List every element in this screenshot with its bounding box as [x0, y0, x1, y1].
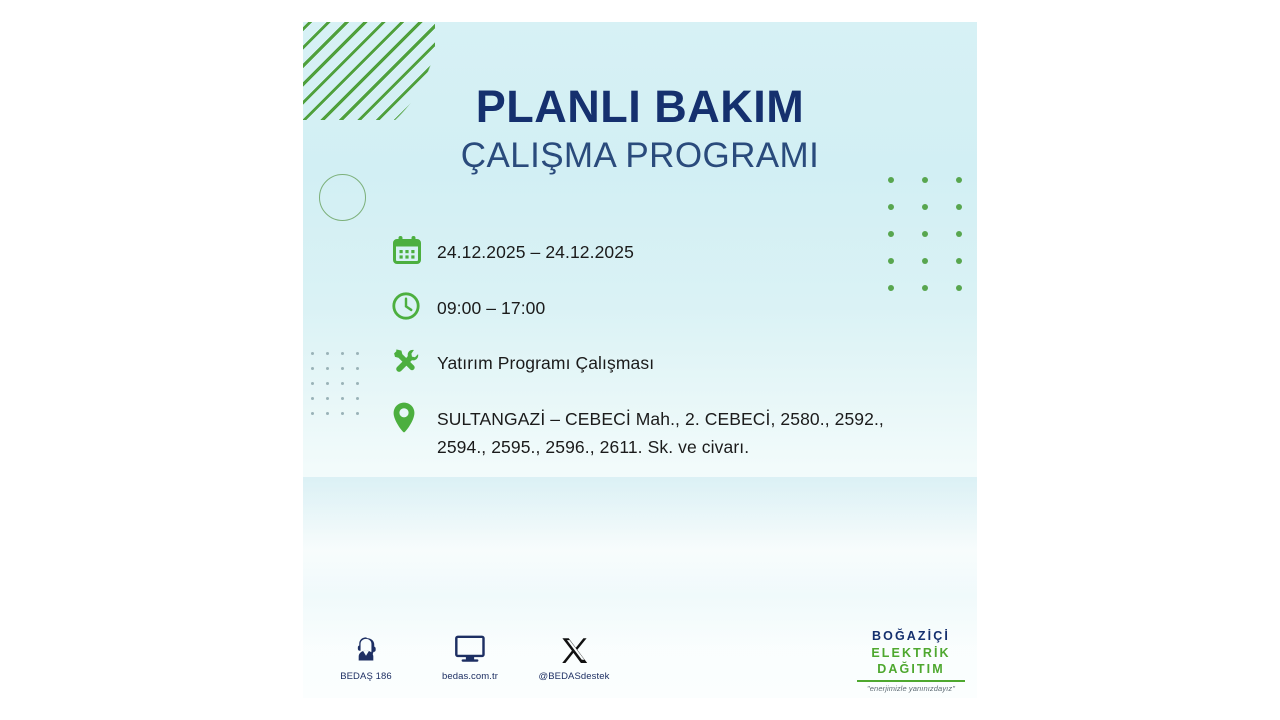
contact-website-label: bedas.com.tr: [433, 671, 507, 682]
contact-channels: BEDAŞ 186 bedas.com.tr: [329, 626, 611, 682]
logo-line-dagitim: DAĞITIM: [857, 661, 965, 678]
detail-location-value: SULTANGAZİ – CEBECİ Mah., 2. CEBECİ, 258…: [437, 398, 884, 462]
page-title: PLANLI BAKIM: [303, 84, 977, 131]
dot-grid-left-decoration: [311, 352, 371, 427]
detail-time-value: 09:00 – 17:00: [437, 286, 545, 322]
detail-row-location: SULTANGAZİ – CEBECİ Mah., 2. CEBECİ, 258…: [391, 398, 961, 462]
contact-x-label: @BEDASdestek: [537, 671, 611, 682]
circle-outline-decoration: [319, 174, 366, 221]
tools-icon: [391, 342, 437, 382]
clock-icon: [391, 286, 437, 326]
logo-divider: [857, 680, 965, 682]
logo-line-elektrik: ELEKTRİK: [857, 645, 965, 662]
detail-location-line1: SULTANGAZİ – CEBECİ Mah., 2. CEBECİ, 258…: [437, 409, 884, 429]
maintenance-details-list: 24.12.2025 – 24.12.2025 09:00 – 17:00: [391, 230, 961, 462]
detail-work-type-value: Yatırım Programı Çalışması: [437, 342, 654, 377]
page-subtitle: ÇALIŞMA PROGRAMI: [303, 138, 977, 175]
x-twitter-icon: [537, 626, 611, 664]
map-pin-icon: [391, 398, 437, 438]
poster-footer: BEDAŞ 186 bedas.com.tr: [303, 620, 977, 698]
detail-location-line2: 2594., 2595., 2596., 2611. Sk. ve civarı…: [437, 437, 749, 457]
logo-line-bogazici: BOĞAZİÇİ: [857, 628, 965, 645]
planned-maintenance-poster: PLANLI BAKIM ÇALIŞMA PROGRAMI: [303, 22, 977, 698]
detail-row-date: 24.12.2025 – 24.12.2025: [391, 230, 961, 270]
detail-row-work-type: Yatırım Programı Çalışması: [391, 342, 961, 382]
detail-row-time: 09:00 – 17:00: [391, 286, 961, 326]
contact-x-twitter[interactable]: @BEDASdestek: [537, 626, 611, 682]
contact-phone[interactable]: BEDAŞ 186: [329, 626, 403, 682]
calendar-icon: [391, 230, 437, 270]
screenshot-stage: PLANLI BAKIM ÇALIŞMA PROGRAMI: [0, 0, 1280, 720]
contact-website[interactable]: bedas.com.tr: [433, 626, 507, 682]
poster-heading-block: PLANLI BAKIM ÇALIŞMA PROGRAMI: [303, 84, 977, 175]
monitor-icon: [433, 626, 507, 664]
logo-tagline: "enerjimizle yanınızdayız": [857, 684, 965, 693]
support-agent-icon: [329, 626, 403, 664]
bedas-logo: BOĞAZİÇİ ELEKTRİK DAĞITIM "enerjimizle y…: [857, 628, 965, 693]
contact-phone-label: BEDAŞ 186: [329, 671, 403, 682]
detail-date-value: 24.12.2025 – 24.12.2025: [437, 230, 634, 266]
